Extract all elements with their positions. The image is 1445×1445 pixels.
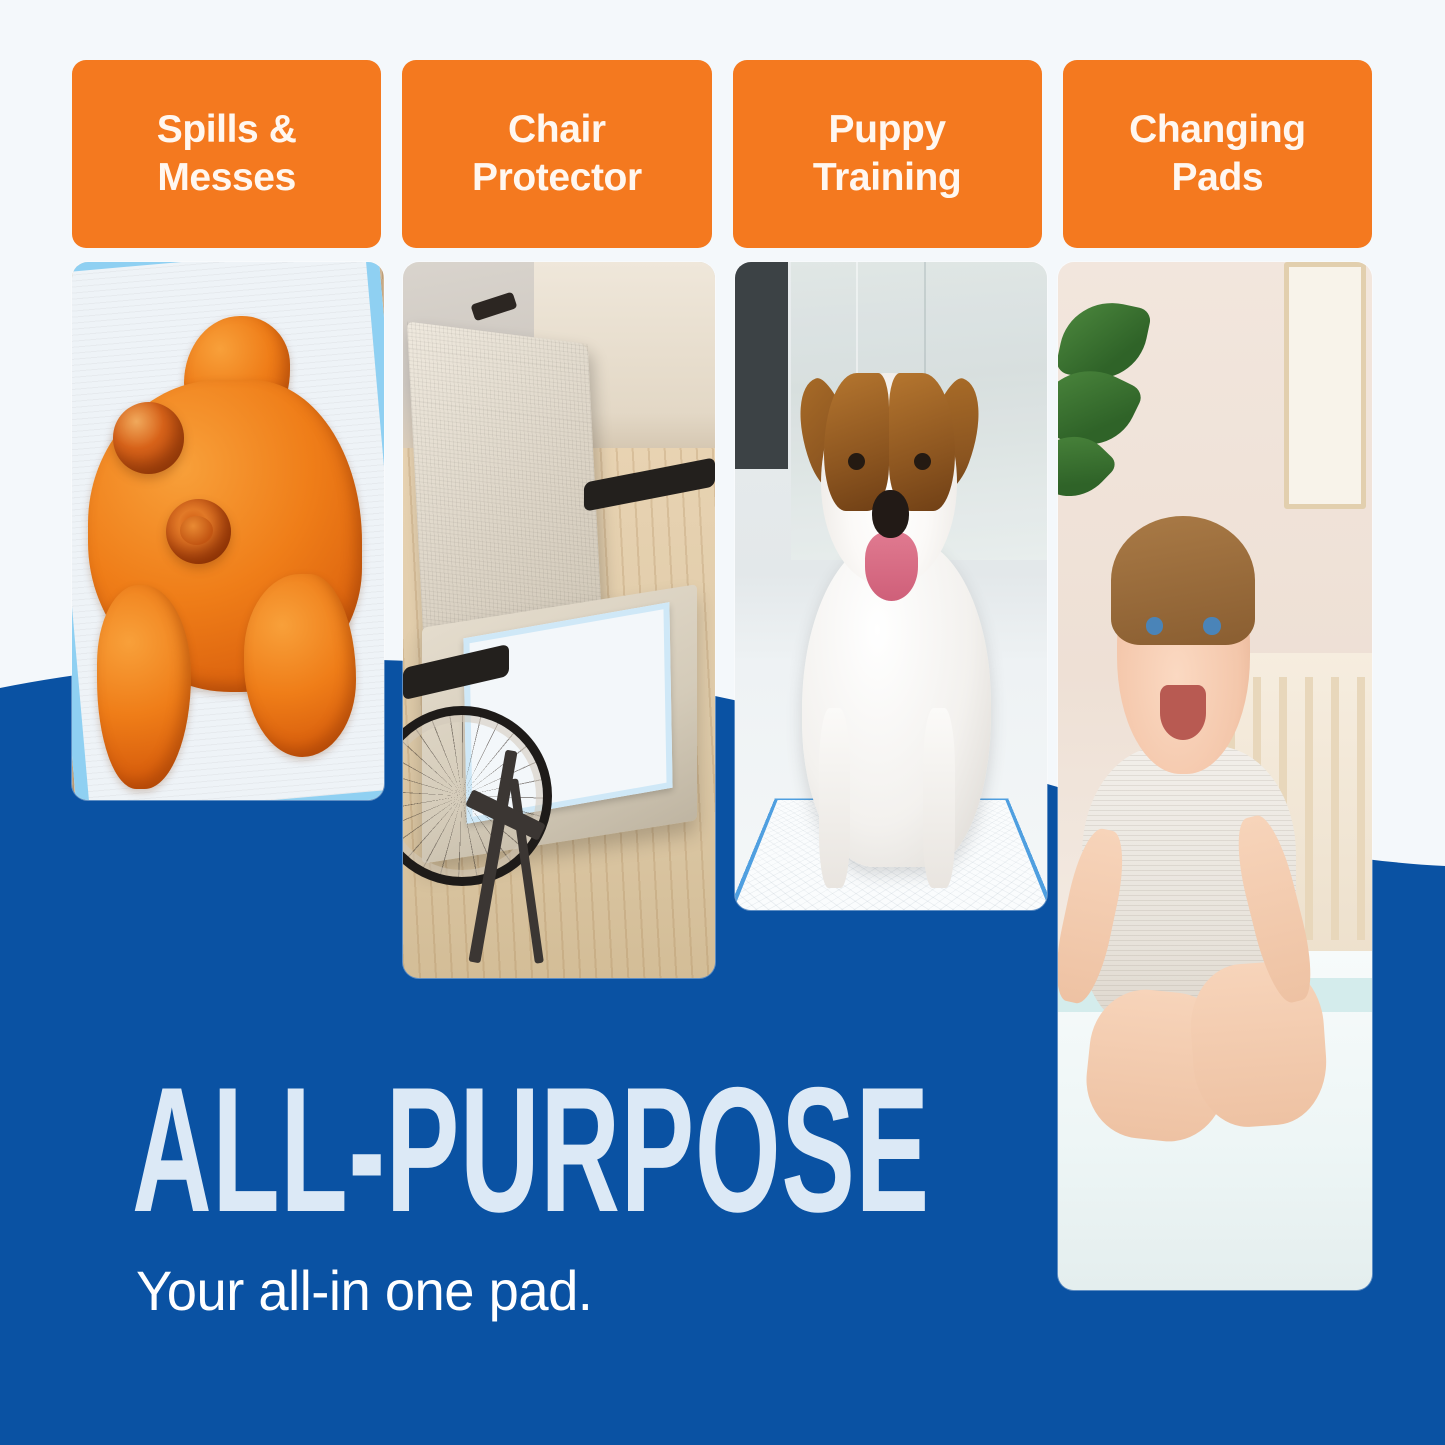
chip-changing-pads[interactable]: Changing Pads: [1063, 60, 1372, 248]
syrup-blob: [88, 380, 363, 692]
crib-base-shadow: [1196, 1043, 1372, 1156]
caramel-cup: [166, 499, 232, 565]
caramel-ball: [113, 402, 185, 474]
baby-arm: [1227, 811, 1321, 1007]
wood-floor: [403, 448, 715, 978]
wall-picture-frame: [1284, 262, 1366, 509]
living-room-backdrop: [403, 262, 715, 978]
photo-chair-protector: [403, 262, 715, 978]
page-subtitle: Your all-in one pad.: [136, 1258, 947, 1323]
page-title: ALL-PURPOSE: [132, 1068, 653, 1232]
plant-leaf: [1058, 293, 1152, 389]
puppy-face-patch: [824, 373, 890, 511]
wheelchair-frame: [466, 789, 547, 841]
puppy-leg: [923, 708, 955, 889]
puppy-tongue: [865, 532, 919, 601]
category-chip-row: Spills & Messes Chair Protector Puppy Tr…: [72, 60, 1372, 248]
caramel-spill: [72, 262, 384, 800]
chip-label-line2: Protector: [472, 154, 642, 202]
chip-label-line2: Messes: [157, 154, 297, 202]
wheelchair-frame: [469, 749, 519, 963]
nursery-backdrop: [1058, 262, 1372, 1290]
puppy-eye: [848, 453, 865, 470]
sofa: [534, 262, 715, 477]
chip-spills-messes[interactable]: Spills & Messes: [72, 60, 381, 248]
chip-label-line1: Puppy: [813, 106, 961, 154]
wheelchair-seat: [422, 584, 697, 864]
chip-label-line2: Training: [813, 154, 961, 202]
chip-label-line1: Changing: [1129, 106, 1306, 154]
training-pad: [735, 798, 1047, 910]
photo-puppy-training: [735, 262, 1047, 910]
wood-floor-backdrop: [72, 262, 384, 800]
changing-pad: [1058, 951, 1372, 1290]
baby-leg: [1186, 959, 1330, 1131]
wheelchair-backrest: [407, 321, 604, 661]
crib: [1190, 653, 1372, 1064]
syrup-blob: [184, 316, 290, 434]
chip-label-line2: Pads: [1129, 154, 1306, 202]
baby-head: [1117, 529, 1250, 773]
syrup-blob: [244, 574, 356, 757]
plant-leaf: [1058, 419, 1119, 514]
baby-leg: [1080, 984, 1233, 1147]
product-marketing-image: Spills & Messes Chair Protector Puppy Tr…: [0, 0, 1445, 1445]
wheelchair-frame: [509, 778, 544, 964]
puppy-leg: [819, 708, 851, 889]
syrup-blob: [97, 585, 191, 789]
puppy-ear: [905, 374, 994, 510]
chip-chair-protector[interactable]: Chair Protector: [402, 60, 711, 248]
puppy-eye: [914, 453, 931, 470]
room-backdrop: [735, 262, 1047, 910]
wheelchair-armrest: [403, 644, 509, 701]
puppy-ear: [784, 374, 873, 510]
photo-spills-messes: [72, 262, 384, 800]
baby-eye: [1203, 617, 1220, 634]
plant-leaf: [1058, 352, 1145, 463]
chip-puppy-training[interactable]: Puppy Training: [733, 60, 1042, 248]
puppy: [772, 346, 1015, 877]
baby-eye: [1146, 617, 1163, 634]
wheelchair-armrest: [584, 457, 715, 511]
baby-mouth: [1160, 685, 1206, 739]
glass-partition: [791, 262, 1047, 560]
headline-block: ALL-PURPOSE Your all-in one pad.: [132, 1068, 972, 1323]
wheelchair-wheel: [403, 706, 552, 886]
puppy-face-patch: [889, 373, 955, 511]
dark-wall-panel: [735, 262, 788, 469]
puppy-nose: [872, 490, 909, 538]
baby-arm: [1058, 825, 1132, 1008]
puppy-body: [802, 538, 992, 867]
puppy-head: [821, 373, 957, 586]
chip-label-line1: Chair: [472, 106, 642, 154]
houseplant: [1058, 293, 1165, 560]
wheelchair-handle: [470, 291, 517, 321]
baby-hair: [1111, 516, 1255, 645]
photo-changing-pads: [1058, 262, 1372, 1290]
chip-label-line1: Spills &: [157, 106, 297, 154]
baby: [1071, 529, 1360, 1207]
absorbent-pad: [72, 262, 384, 800]
baby-onesie: [1082, 746, 1296, 1031]
absorbent-pad: [464, 602, 673, 824]
